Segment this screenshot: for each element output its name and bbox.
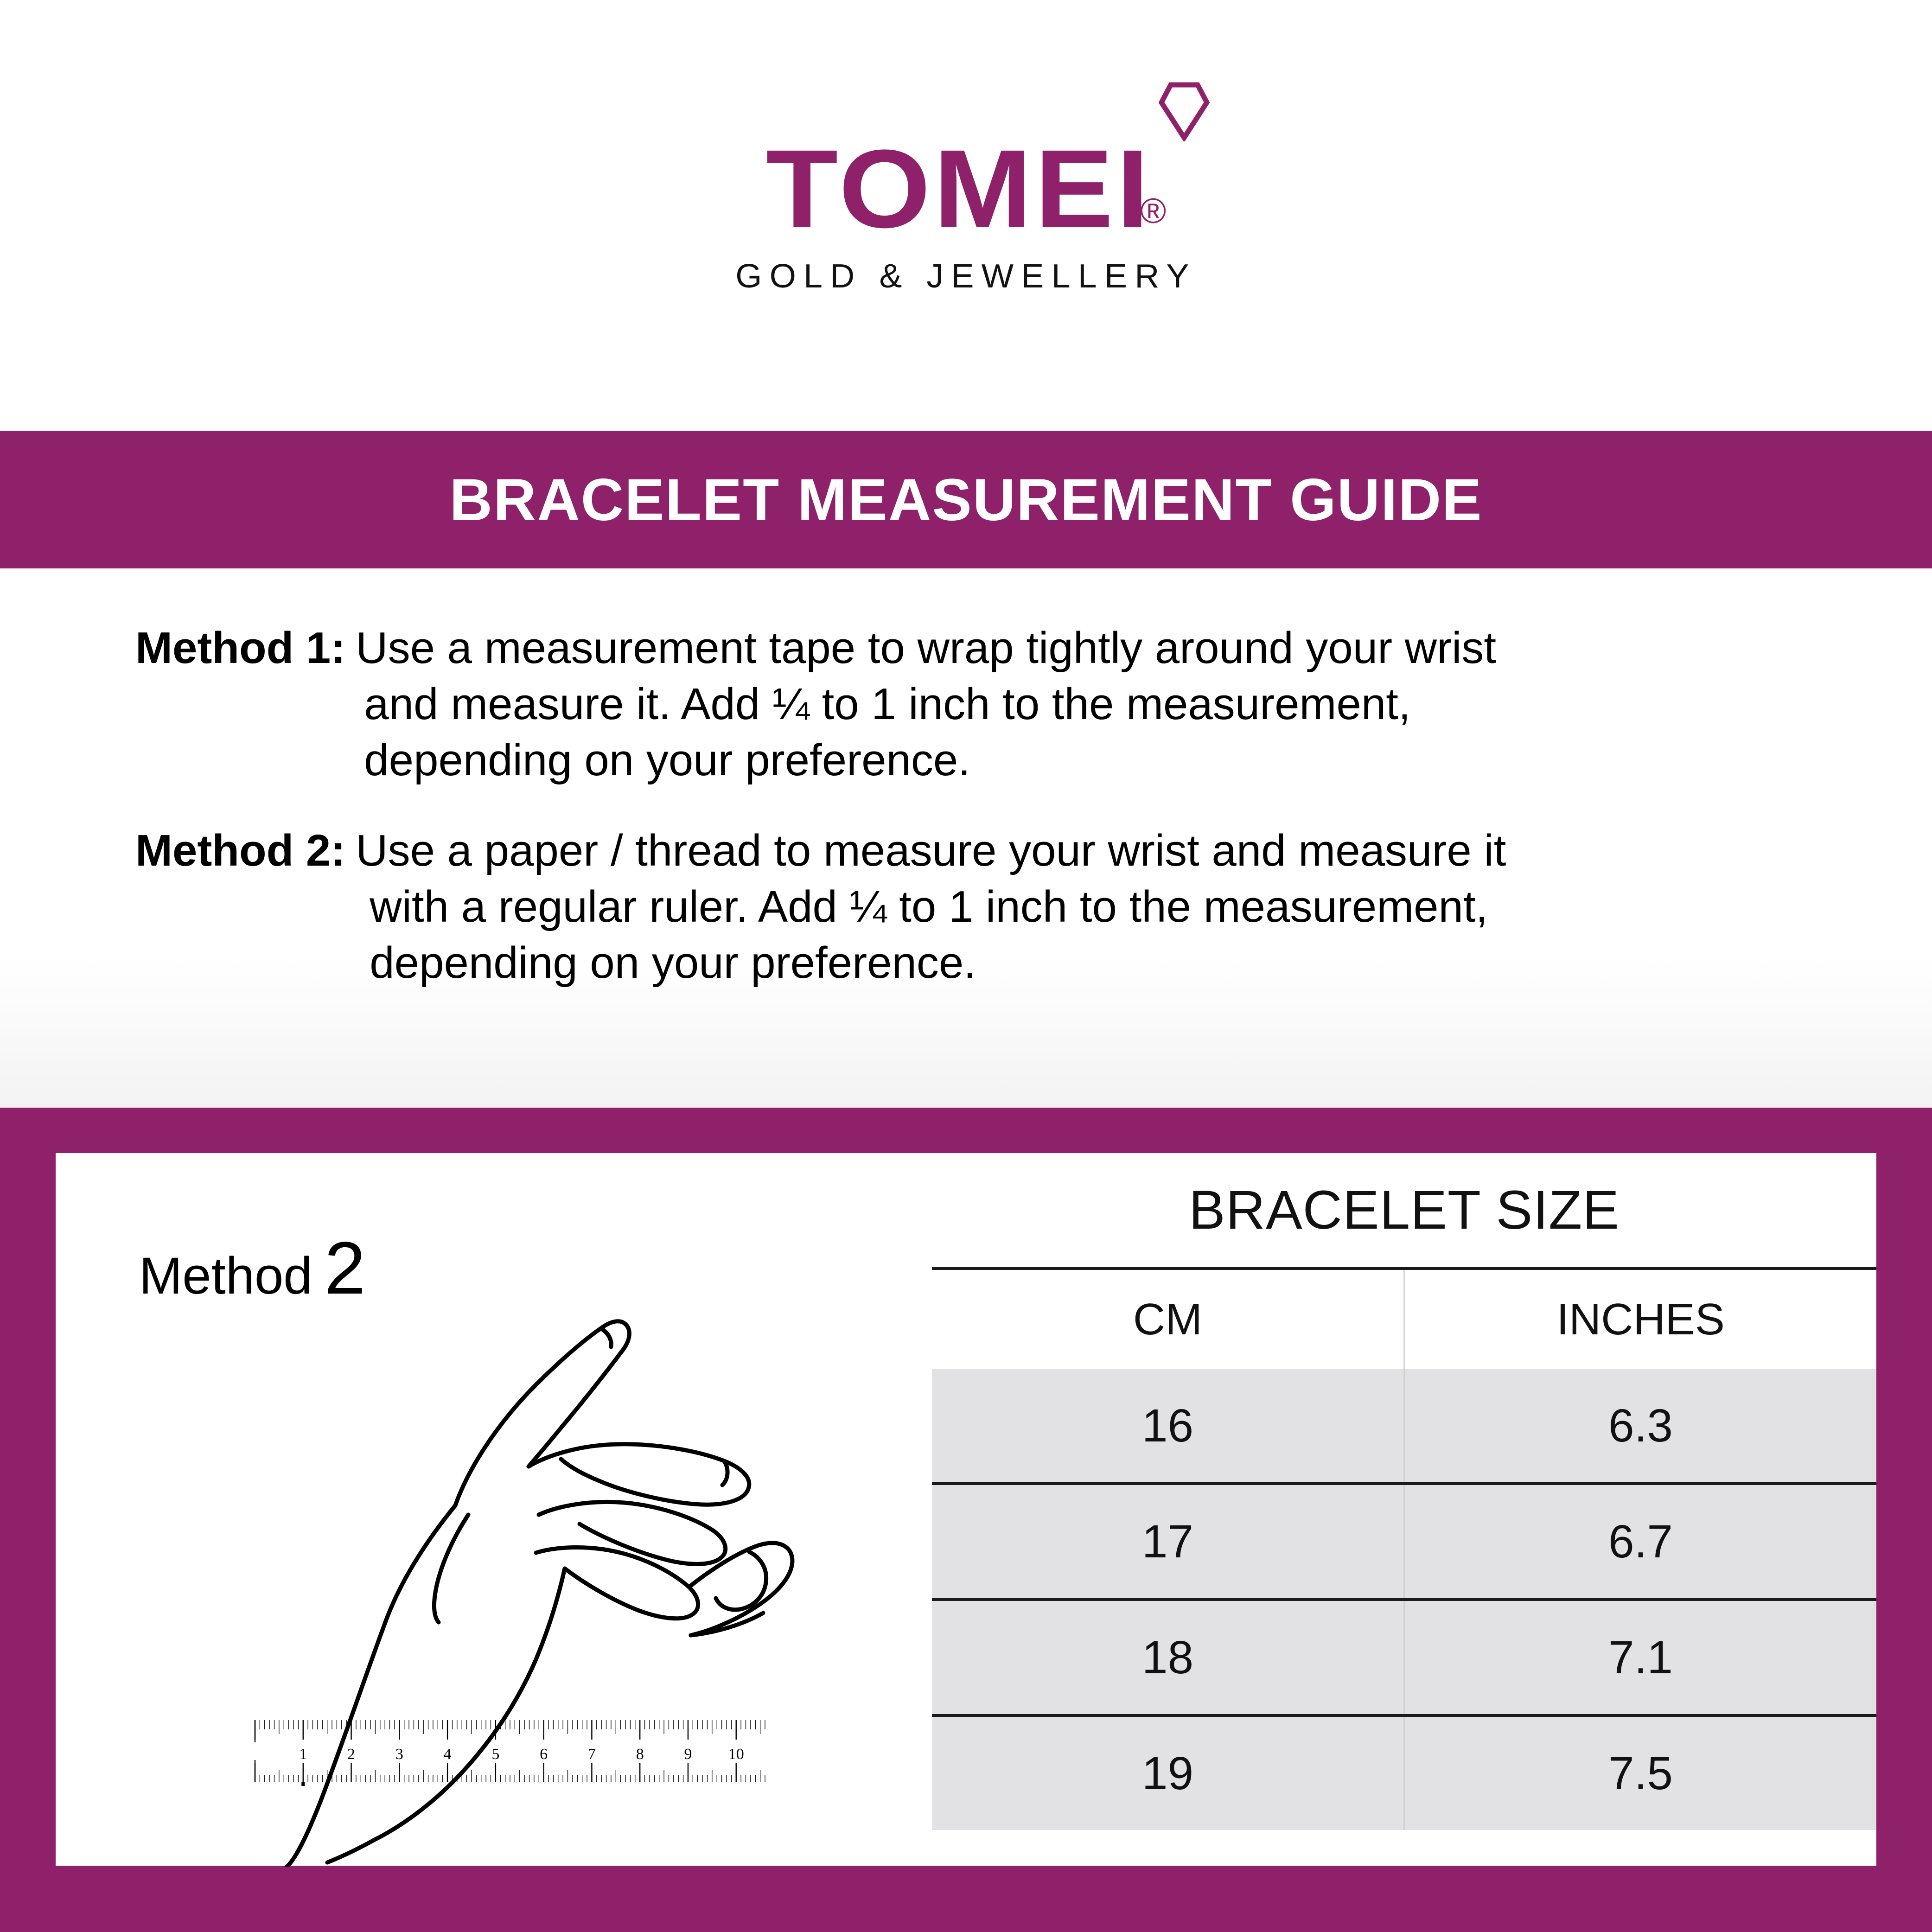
ruler-number: 6 [540,1746,548,1763]
cell-cm: 17 [932,1484,1404,1600]
table-row: 19 7.5 [932,1715,1876,1830]
table-head: CM INCHES [932,1269,1876,1369]
method-2-line-3: depending on your preference. [356,935,1849,991]
method-2-label: Method 2: [135,823,356,991]
method-1-label: Method 1: [135,620,356,789]
cell-inches: 7.1 [1404,1600,1877,1715]
method-1-block: Method 1: Use a measurement tape to wrap… [0,620,1932,789]
table-row: 16 6.3 [932,1369,1876,1484]
ruler-icon: 12345678910 [250,1716,770,1786]
ruler-number: 3 [395,1746,403,1763]
brand-logo-block: TOMEI ® GOLD & JEWELLERY [0,0,1932,431]
table-row: 17 6.7 [932,1484,1876,1600]
ruler-number: 4 [444,1746,452,1763]
ruler-number: 2 [347,1746,355,1763]
method-1-body: Use a measurement tape to wrap tightly a… [356,620,1849,789]
bracelet-size-table-card: BRACELET SIZE CM INCHES 16 6.3 17 6.7 [932,1153,1876,1866]
methods-section: Method 1: Use a measurement tape to wrap… [0,568,1932,1108]
ruler-number: 10 [728,1746,744,1763]
cell-cm: 19 [932,1715,1404,1830]
method-1-line-3: depending on your preference. [356,733,1849,789]
page-title-banner: BRACELET MEASUREMENT GUIDE [0,431,1932,568]
page-title: BRACELET MEASUREMENT GUIDE [449,466,1482,534]
cell-inches: 6.7 [1404,1484,1877,1600]
cell-inches: 6.3 [1404,1369,1877,1484]
method-2-body: Use a paper / thread to measure your wri… [356,823,1849,991]
method-1-line-1: Use a measurement tape to wrap tightly a… [356,620,1849,676]
method-2-block: Method 2: Use a paper / thread to measur… [0,823,1932,991]
table-body: 16 6.3 17 6.7 18 7.1 19 7.5 [932,1369,1876,1830]
method-2-line-1: Use a paper / thread to measure your wri… [356,823,1849,879]
brand-tagline: GOLD & JEWELLERY [735,257,1196,295]
column-header-inches: INCHES [1404,1269,1877,1369]
illustration-card: Method 2 [56,1153,944,1866]
cell-inches: 7.5 [1404,1715,1877,1830]
bottom-purple-panel: Method 2 [0,1108,1932,1932]
ruler-number: 9 [684,1746,692,1763]
logo-row: TOMEI ® [766,136,1167,242]
table-title: BRACELET SIZE [932,1153,1876,1267]
cell-cm: 16 [932,1369,1404,1484]
method-2-line-2: with a regular ruler. Add ¼ to 1 inch to… [356,879,1849,935]
diamond-outline-icon [1159,82,1210,141]
table-header-row: CM INCHES [932,1269,1876,1369]
bracelet-size-table: CM INCHES 16 6.3 17 6.7 18 7.1 [932,1267,1876,1830]
column-header-cm: CM [932,1269,1404,1369]
bracelet-measurement-guide-page: TOMEI ® GOLD & JEWELLERY BRACELET MEASUR… [0,0,1932,1932]
brand-wordmark: TOMEI [766,136,1152,242]
ruler-number: 1 [299,1746,307,1763]
ruler-number: 5 [491,1746,499,1763]
ruler-number: 7 [588,1746,596,1763]
ruler-number: 8 [636,1746,644,1763]
table-row: 18 7.1 [932,1600,1876,1715]
logo-wrap: TOMEI ® GOLD & JEWELLERY [740,136,1192,295]
method-1-line-2: and measure it. Add ¼ to 1 inch to the m… [356,676,1849,733]
cell-cm: 18 [932,1600,1404,1715]
